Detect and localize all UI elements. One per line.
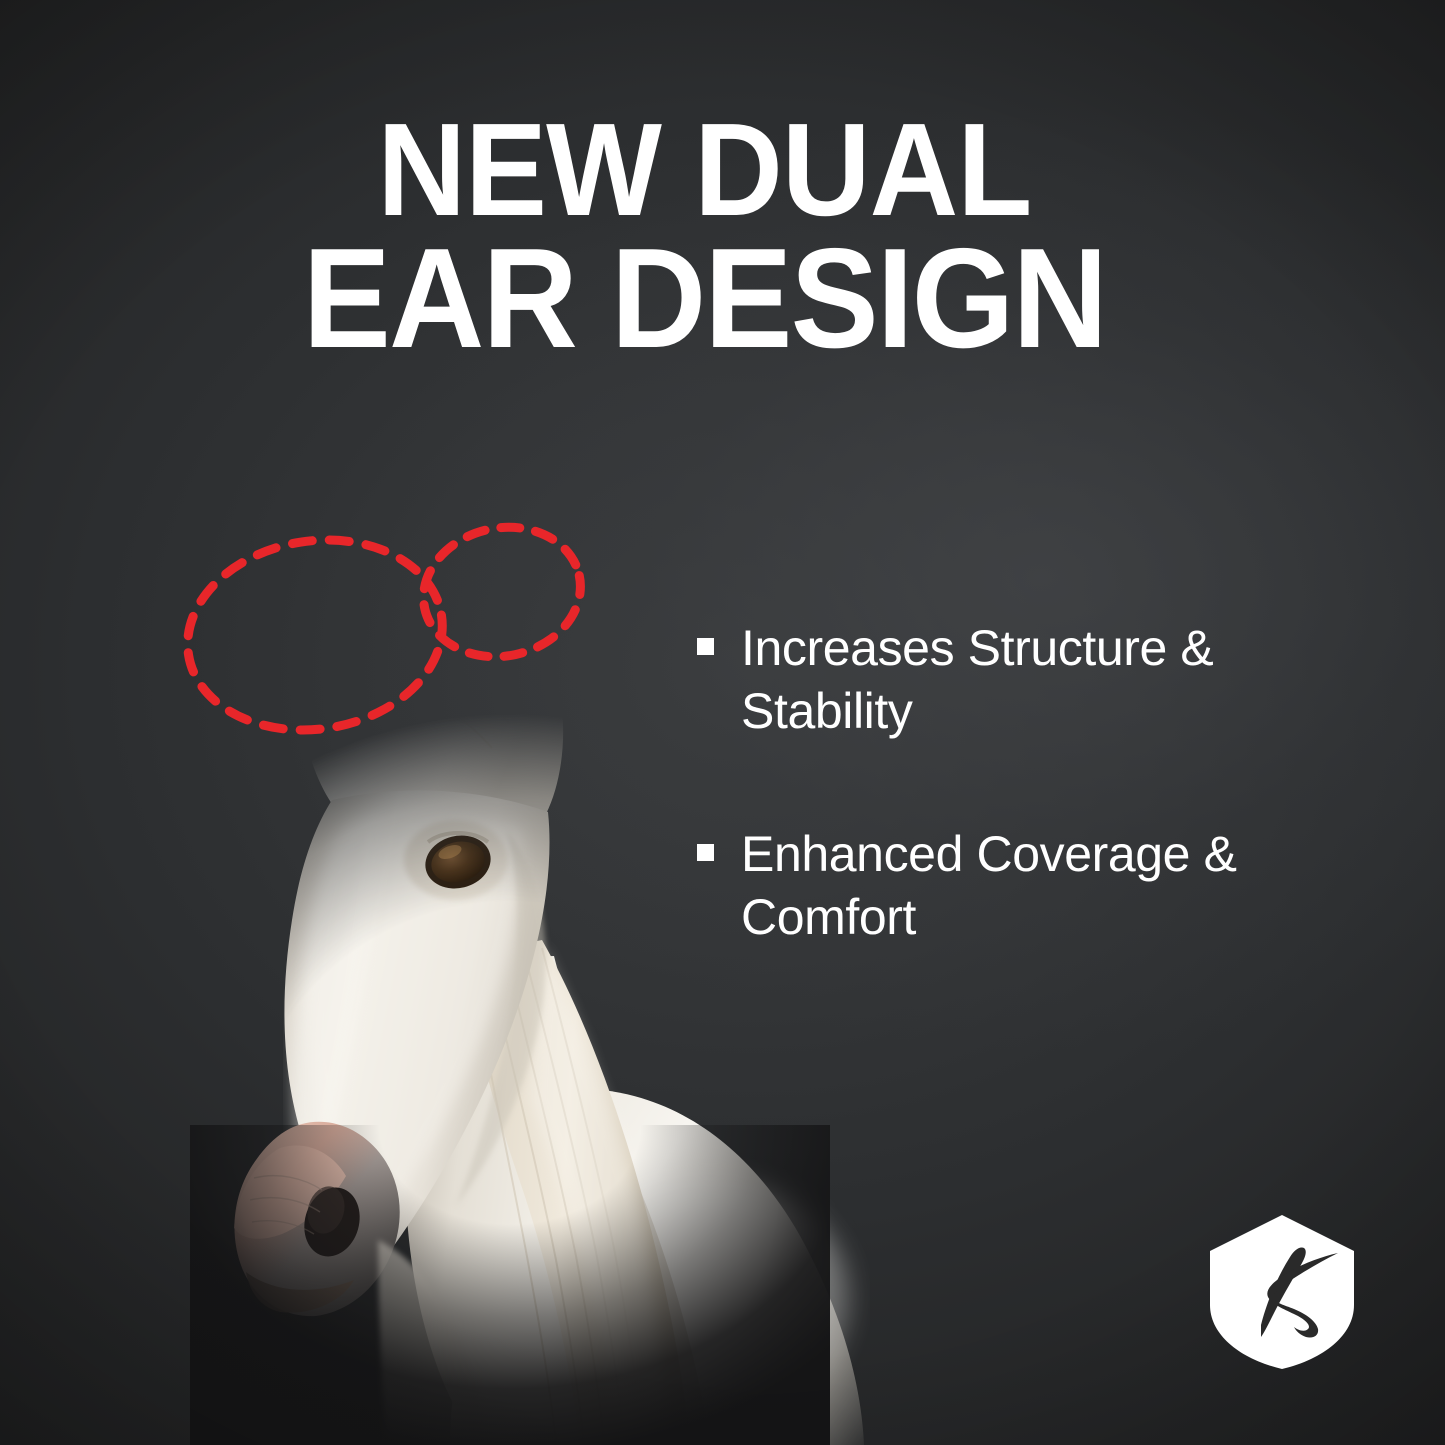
bullet-text: Enhanced Coverage & Comfort — [741, 826, 1237, 945]
bullet-text: Increases Structure & Stability — [741, 620, 1213, 739]
square-bullet-icon — [697, 638, 714, 655]
headline-line-1: NEW DUAL — [258, 108, 1151, 232]
shield-k-icon — [1206, 1213, 1358, 1371]
headline-line-2: EAR DESIGN — [258, 232, 1151, 365]
list-item: Enhanced Coverage & Comfort — [697, 823, 1377, 949]
headline: NEW DUAL EAR DESIGN — [258, 108, 1151, 366]
list-item: Increases Structure & Stability — [697, 617, 1377, 743]
brand-logo — [1206, 1213, 1358, 1371]
ad-creative-canvas: NEW DUAL EAR DESIGN Increases Structure … — [0, 0, 1445, 1445]
square-bullet-icon — [697, 844, 714, 861]
feature-bullet-list: Increases Structure & Stability Enhanced… — [697, 617, 1377, 949]
